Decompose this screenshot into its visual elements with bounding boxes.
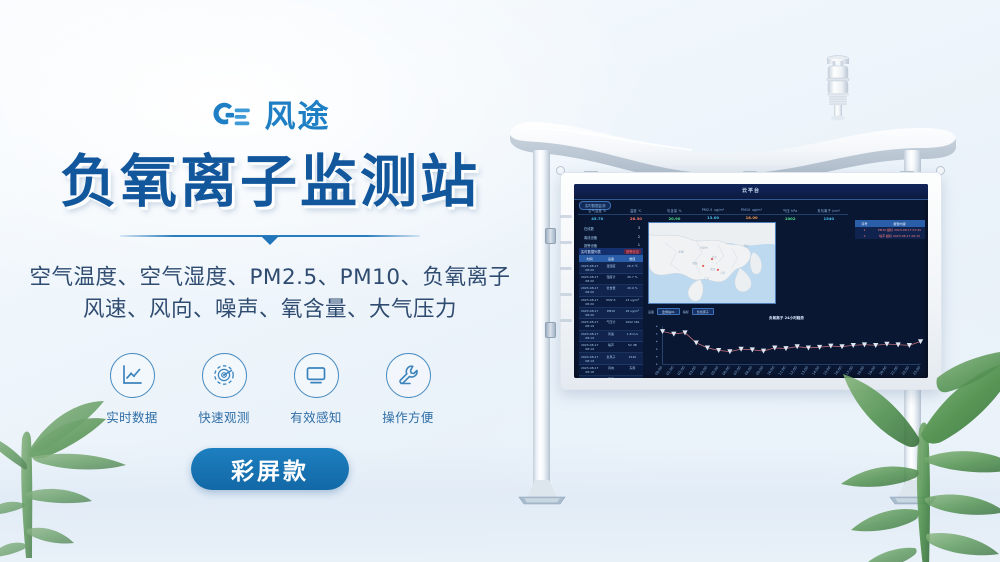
- stat-row: 离线设备 2: [584, 235, 640, 240]
- svg-text:西藏: 西藏: [692, 261, 698, 265]
- trend-line-chart: 00:0001:0002:0003:0004:0005:0006:0007:00…: [648, 322, 925, 378]
- ultrasonic-weather-sensor-icon: [818, 52, 858, 122]
- svg-text:广东: 广东: [704, 277, 710, 281]
- stat-label: 离线设备: [584, 235, 597, 240]
- enclosure-vent-slot-icon: [560, 241, 572, 244]
- feature-icon-circle: [202, 353, 247, 398]
- svg-text:23:00: 23:00: [912, 365, 921, 376]
- table-row[interactable]: 2023-08-17 08:20氧含量20.9 %: [579, 285, 643, 296]
- svg-text:03:00: 03:00: [688, 365, 697, 376]
- svg-text:上海: 上海: [720, 271, 726, 275]
- svg-text:18:00: 18:00: [856, 365, 865, 376]
- column-header: 数值: [622, 255, 643, 262]
- table-cell: 20.9 %: [622, 285, 643, 295]
- feature-icon-circle: [110, 353, 155, 398]
- stat-value: 3: [638, 226, 640, 231]
- svg-text:17:00: 17:00: [845, 365, 854, 376]
- divider: [120, 230, 420, 248]
- triangle-down-divider-icon: [261, 236, 279, 245]
- svg-text:19:00: 19:00: [867, 365, 876, 376]
- table-cell: 氧含量: [600, 285, 621, 295]
- table-cell: 1.8 m/s: [622, 331, 643, 341]
- radar-scan-icon: [212, 363, 236, 387]
- dashboard-title: 云平台: [742, 187, 760, 194]
- table-cell: 2023-08-17 08:19: [579, 331, 600, 341]
- metric-card: 氧含量 % 20.90: [655, 208, 694, 221]
- alarm-badge: 报警信息: [624, 249, 641, 254]
- alarm-cell: 2: [855, 233, 874, 239]
- metric-label: 氧含量 %: [655, 208, 694, 213]
- svg-text:新疆: 新疆: [679, 249, 685, 253]
- svg-text:14:00: 14:00: [811, 365, 820, 376]
- enclosure-vent-slot-icon: [560, 293, 572, 296]
- device-select[interactable]: 监测站01: [657, 308, 680, 315]
- table-cell: 2023-08-17 08:20: [579, 285, 600, 295]
- table-cell: 26.3 ℃: [622, 262, 643, 272]
- svg-text:16:00: 16:00: [834, 365, 843, 376]
- base-flange-plate-right-icon: [886, 480, 940, 506]
- feature-item-realtime-data: 实时数据: [99, 353, 165, 426]
- brand-name: 风途: [265, 102, 331, 133]
- svg-text:04:00: 04:00: [699, 365, 708, 376]
- alarm-header-row: 序号 报警内容: [855, 220, 925, 227]
- asia-map-icon: 新疆内蒙古 西藏北京 湖北上海 广东日本: [649, 223, 775, 303]
- feature-icon-circle: [294, 353, 339, 398]
- table-cell: 温湿度: [600, 262, 621, 272]
- metric-card: 温度 ℃ 26.30: [617, 208, 656, 221]
- feature-label: 快速观测: [198, 407, 250, 426]
- table-body: 2023-08-17 08:20温湿度26.3 ℃2023-08-17 08:2…: [579, 262, 643, 378]
- metric-label: 空气湿度 %: [578, 208, 617, 213]
- table-cell: 2023-08-17 08:20: [579, 308, 600, 318]
- line-chart-icon: [120, 363, 144, 387]
- table-cell: 2023-08-17 08:20: [579, 297, 600, 307]
- feature-label: 有效感知: [290, 407, 342, 426]
- svg-text:05:00: 05:00: [710, 365, 719, 376]
- realtime-data-table[interactable]: 实时数据列表 报警信息 时间 设备 数值 2023-08-17 08:20温湿度…: [579, 248, 643, 378]
- dashboard: 云平台 实时数据监测 空气湿度 % 45.70 温度 ℃ 26.30 氧含量 %: [574, 184, 928, 378]
- svg-text:09:00: 09:00: [755, 365, 764, 376]
- enclosure-vent-slot-icon: [560, 215, 572, 218]
- table-cell: 噪声: [600, 342, 621, 352]
- station-distribution-map[interactable]: 新疆内蒙古 西藏北京 湖北上海 广东日本: [648, 222, 776, 304]
- base-flange-plate-left-icon: [515, 480, 569, 506]
- subtitle-line-1: 空气温度、空气湿度、PM2.5、PM10、负氧离子: [29, 262, 510, 295]
- alarm-row[interactable]: 2噪声 超标 2023-08-17 06:15: [855, 233, 925, 239]
- subtitle-line-2: 风速、风向、噪声、氧含量、大气压力: [29, 294, 510, 327]
- metric-card: 负氧离子 /cm³ 1540: [809, 208, 848, 221]
- metric-strip: 空气湿度 % 45.70 温度 ℃ 26.30 氧含量 % 20.90 PM: [578, 208, 848, 221]
- alarm-body: 1PM10 超标 2023-08-17 07:402噪声 超标 2023-08-…: [855, 227, 925, 239]
- table-cell: 1540: [622, 353, 643, 363]
- stat-row: 在线数 3: [584, 226, 640, 231]
- wrench-icon: [396, 363, 420, 387]
- svg-text:内蒙古: 内蒙古: [700, 245, 708, 249]
- metric-value: 13.00: [694, 215, 733, 220]
- metric-value: 1002: [771, 216, 810, 221]
- led-display-screen[interactable]: 云平台 实时数据监测 空气湿度 % 45.70 温度 ℃ 26.30 氧含量 %: [574, 184, 928, 378]
- table-row[interactable]: 2023-08-17 08:19风速1.8 m/s: [579, 331, 643, 342]
- enclosure-vent-slot-icon: [560, 267, 572, 270]
- subtitle: 空气温度、空气湿度、PM2.5、PM10、负氧离子 风速、风向、噪声、氧含量、大…: [29, 262, 510, 327]
- table-cell: 2023-08-17 08:20: [579, 274, 600, 284]
- table-cell: 气压计: [600, 319, 621, 329]
- feature-list: 实时数据 快速观测: [99, 353, 441, 426]
- table-cell: 负离子: [600, 353, 621, 363]
- brand-logo: 风途: [210, 96, 331, 138]
- svg-text:13:00: 13:00: [800, 365, 809, 376]
- page-title: 负氧离子监测站: [60, 152, 480, 214]
- feature-item-fast-observation: 快速观测: [191, 353, 257, 426]
- svg-text:08:00: 08:00: [744, 365, 753, 376]
- table-row[interactable]: 2023-08-17 08:20PM1018 ug/m³: [579, 308, 643, 319]
- table-cell: 2023-08-17 08:18: [579, 376, 600, 378]
- metric-value: 1540: [809, 216, 848, 221]
- column-header: 时间: [579, 255, 600, 262]
- table-row[interactable]: 2023-08-17 08:19负离子1540: [579, 353, 643, 364]
- svg-text:15:00: 15:00: [823, 365, 832, 376]
- metric-label: PM10 ug/m³: [732, 208, 771, 212]
- feature-icon-circle: [386, 353, 431, 398]
- svg-text:11:00: 11:00: [778, 365, 787, 376]
- table-cell: 2023-08-17 08:18: [579, 365, 600, 375]
- wave-canopy-icon: [502, 90, 962, 185]
- table-cell: 雨量: [600, 376, 621, 378]
- svg-text:湖北: 湖北: [710, 267, 716, 271]
- svg-text:06:00: 06:00: [722, 365, 731, 376]
- metric-value: 26.30: [617, 216, 656, 221]
- table-row[interactable]: 2023-08-17 08:20温湿度26.3 ℃: [579, 262, 643, 273]
- metric-label: 气压 hPa: [771, 208, 810, 213]
- metric-strip-rule: [578, 214, 848, 215]
- chart-filter-label: 设备: [648, 310, 654, 314]
- table-cell: PM10: [600, 308, 621, 318]
- table-cell: 东南: [622, 365, 643, 375]
- trend-chart-panel: 设备 监测站01 指标 负氧离子 负氧离子 24小时趋势 00:0001:000…: [648, 308, 925, 376]
- table-cell: 风速: [600, 331, 621, 341]
- table-cell: 1002 hPa: [622, 319, 643, 329]
- fengtu-wind-g-logo-icon: [210, 100, 256, 134]
- table-row[interactable]: 2023-08-17 08:19噪声52 dB: [579, 342, 643, 353]
- table-header-row: 时间 设备 数值: [579, 255, 643, 262]
- banner-stage: 风途 负氧离子监测站 空气温度、空气湿度、PM2.5、PM10、负氧离子 风速、…: [0, 0, 1000, 562]
- feature-item-easy-operation: 操作方便: [375, 353, 441, 426]
- metric-card: 空气湿度 % 45.70: [578, 208, 617, 221]
- table-cell: 2023-08-17 08:20: [579, 262, 600, 272]
- svg-text:07:00: 07:00: [733, 365, 742, 376]
- svg-text:20:00: 20:00: [879, 365, 888, 376]
- metric-card: 气压 hPa 1002: [771, 208, 810, 221]
- table-cell: 2023-08-17 08:19: [579, 342, 600, 352]
- metric-value: 20.90: [655, 216, 694, 221]
- svg-text:日本: 日本: [744, 243, 750, 247]
- table-cell: 45.7 %: [622, 274, 643, 284]
- metric-label: 温度 ℃: [617, 208, 656, 213]
- table-row[interactable]: 2023-08-17 08:20湿度计45.7 %: [579, 274, 643, 285]
- metric-value: 45.70: [578, 216, 617, 221]
- svg-text:00:00: 00:00: [654, 365, 663, 376]
- chart-toolbar[interactable]: 设备 监测站01 指标 负氧离子: [648, 308, 925, 315]
- stat-label: 在线数: [584, 226, 594, 231]
- column-header: 报警内容: [874, 220, 925, 227]
- feature-label: 操作方便: [382, 407, 434, 426]
- metric-card: PM10 ug/m³ 18.00: [732, 208, 771, 221]
- chart-canvas: 00:0001:0002:0003:0004:0005:0006:0007:00…: [648, 322, 925, 364]
- svg-text:02:00: 02:00: [677, 365, 686, 376]
- table-row[interactable]: 2023-08-17 08:18风向东南: [579, 365, 643, 376]
- svg-text:01:00: 01:00: [666, 365, 675, 376]
- alarm-cell: 噪声 超标 2023-08-17 06:15: [874, 233, 925, 239]
- column-header: 设备: [600, 255, 621, 262]
- color-screen-model-button[interactable]: 彩屏款: [191, 448, 349, 490]
- monitor-screen-icon: [304, 363, 328, 387]
- enclosure-vent-slot-icon: [560, 319, 572, 322]
- mounting-bracket-icon: [545, 322, 556, 338]
- table-cell: 2023-08-17 08:19: [579, 353, 600, 363]
- column-header: 序号: [855, 220, 874, 227]
- table-cell: 18 ug/m³: [622, 308, 643, 318]
- chart-filter-label: 指标: [683, 310, 689, 314]
- table-cell: 52 dB: [622, 342, 643, 352]
- metric-select[interactable]: 负氧离子: [692, 308, 714, 315]
- svg-text:21:00: 21:00: [890, 365, 899, 376]
- alarm-panel[interactable]: 序号 报警内容 1PM10 超标 2023-08-17 07:402噪声 超标 …: [855, 220, 925, 239]
- table-title-bar: 实时数据列表 报警信息: [579, 248, 643, 255]
- metric-label: 负氧离子 /cm³: [809, 208, 848, 213]
- table-cell: PM2.5: [600, 297, 621, 307]
- stat-value: 2: [638, 235, 640, 240]
- table-title: 实时数据列表: [581, 249, 601, 254]
- svg-text:22:00: 22:00: [901, 365, 910, 376]
- mounting-bracket-icon: [545, 228, 556, 244]
- monitoring-station-kiosk: 云平台 实时数据监测 空气湿度 % 45.70 温度 ℃ 26.30 氧含量 %: [500, 0, 1000, 562]
- svg-text:10:00: 10:00: [767, 365, 776, 376]
- feature-label: 实时数据: [106, 407, 158, 426]
- table-row[interactable]: 2023-08-17 08:19气压计1002 hPa: [579, 319, 643, 330]
- display-enclosure: 云平台 实时数据监测 空气湿度 % 45.70 温度 ℃ 26.30 氧含量 %: [560, 172, 942, 390]
- table-row[interactable]: 2023-08-17 08:18雨量0.0 mm: [579, 376, 643, 378]
- metric-card: PM2.5 ug/m³ 13.00: [694, 208, 733, 221]
- table-cell: 湿度计: [600, 274, 621, 284]
- marketing-text-panel: 风途 负氧离子监测站 空气温度、空气湿度、PM2.5、PM10、负氧离子 风速、…: [0, 0, 540, 562]
- table-cell: 2023-08-17 08:19: [579, 319, 600, 329]
- table-cell: 0.0 mm: [622, 376, 643, 378]
- metric-value: 18.00: [732, 215, 771, 220]
- chart-title: 负氧离子 24小时趋势: [648, 316, 925, 321]
- table-cell: 风向: [600, 365, 621, 375]
- table-cell: 13 ug/m³: [622, 297, 643, 307]
- feature-item-effective-sensing: 有效感知: [283, 353, 349, 426]
- svg-text:12:00: 12:00: [789, 365, 798, 376]
- metric-label: PM2.5 ug/m³: [694, 208, 733, 212]
- table-row[interactable]: 2023-08-17 08:20PM2.513 ug/m³: [579, 297, 643, 308]
